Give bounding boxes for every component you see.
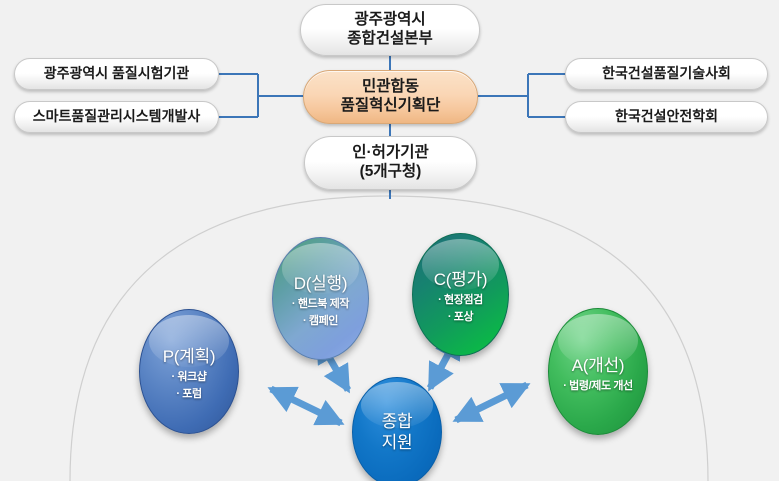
org-node-left-2-label: 스마트품질관리시스템개발사 [33, 108, 200, 125]
pdca-bubble-check-item-1: · 현장점검 [438, 291, 483, 307]
org-node-bottom-line2: (5개구청) [360, 163, 422, 182]
org-node-top[interactable]: 광주광역시 종합건설본부 [300, 4, 480, 56]
org-node-bottom[interactable]: 인·허가기관 (5개구청) [304, 136, 477, 190]
pdca-bubble-hub-line1: 종합 [382, 411, 413, 432]
arrow-hub-to-a [456, 385, 527, 420]
org-node-center-line1: 민관합동 [362, 78, 419, 97]
org-node-top-line2: 종합건설본부 [347, 30, 433, 49]
pdca-bubble-plan-title: P(계획) [163, 342, 215, 367]
pdca-bubble-act-item-1: · 법령/제도 개선 [563, 377, 633, 393]
pdca-bubble-hub[interactable]: 종합 지원 [352, 377, 442, 481]
org-node-left-1-label: 광주광역시 품질시험기관 [44, 65, 190, 82]
pdca-bubble-act-title: A(개선) [572, 351, 624, 376]
pdca-bubble-plan-item-1: · 워크샵 [171, 368, 206, 384]
org-node-top-line1: 광주광역시 [354, 11, 425, 30]
pdca-bubble-plan[interactable]: P(계획) · 워크샵 · 포럼 [139, 309, 239, 434]
org-node-left-1[interactable]: 광주광역시 품질시험기관 [14, 58, 219, 90]
pdca-bubble-do[interactable]: D(실행) · 핸드북 제작 · 캠페인 [272, 237, 369, 360]
org-node-right-1[interactable]: 한국건설품질기술사회 [565, 58, 768, 90]
pdca-bubble-check-item-2: · 포상 [448, 308, 473, 324]
pdca-bubble-do-item-1: · 핸드북 제작 [292, 295, 349, 311]
pdca-bubble-act[interactable]: A(개선) · 법령/제도 개선 [548, 308, 648, 435]
pdca-bubble-check-title: C(평가) [434, 265, 487, 290]
org-node-bottom-line1: 인·허가기관 [352, 144, 428, 163]
pdca-bubble-do-item-2: · 캠페인 [303, 312, 338, 328]
diagram-canvas: 광주광역시 종합건설본부 민관합동 품질혁신기획단 인·허가기관 (5개구청) … [0, 0, 779, 481]
org-node-right-2-label: 한국건설안전학회 [615, 108, 718, 125]
org-node-center[interactable]: 민관합동 품질혁신기획단 [303, 70, 478, 124]
org-node-right-1-label: 한국건설품질기술사회 [602, 65, 731, 82]
org-node-right-2[interactable]: 한국건설안전학회 [565, 101, 768, 133]
org-node-center-line2: 품질혁신기획단 [341, 97, 441, 116]
pdca-bubble-plan-item-2: · 포럼 [176, 385, 201, 401]
org-node-left-2[interactable]: 스마트품질관리시스템개발사 [14, 101, 219, 133]
pdca-bubble-check[interactable]: C(평가) · 현장점검 · 포상 [412, 233, 509, 356]
pdca-bubble-do-title: D(실행) [294, 269, 347, 294]
pdca-bubble-hub-line2: 지원 [382, 432, 413, 453]
arrow-hub-to-p [271, 389, 341, 423]
